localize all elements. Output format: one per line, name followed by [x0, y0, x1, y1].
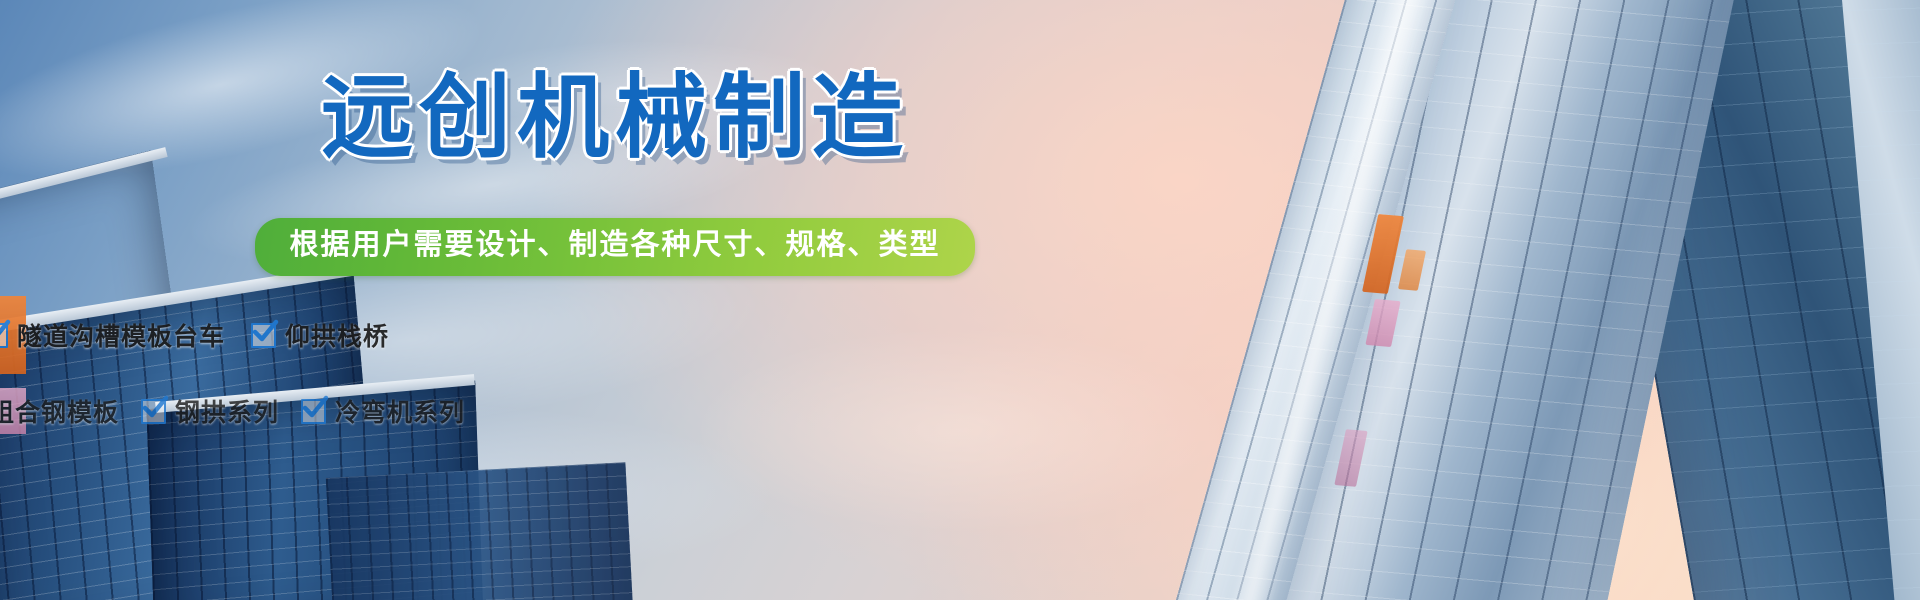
- checkbox-checked-icon: [251, 323, 276, 348]
- banner-subtitle-wrap: 根据用户需要设计、制造各种尺寸、规格、类型: [0, 218, 1230, 276]
- feature-label: 大型组合钢模板: [0, 393, 119, 429]
- feature-item[interactable]: 大型组合钢模板: [0, 393, 119, 429]
- feature-label: 隧道沟槽模板台车: [17, 317, 225, 353]
- banner-subtitle-pill: 根据用户需要设计、制造各种尺寸、规格、类型: [255, 218, 974, 276]
- feature-label: 钢拱系列: [175, 393, 279, 429]
- feature-label: 仰拱栈桥: [285, 317, 389, 353]
- feature-item[interactable]: 钢拱系列: [141, 393, 279, 429]
- hero-banner: 远创机械制造 根据用户需要设计、制造各种尺寸、规格、类型 全液压衬砌模板台车系列…: [0, 0, 1920, 600]
- feature-row-1: 全液压衬砌模板台车系列 隧道沟槽模板台车 仰拱栈桥: [0, 296, 26, 374]
- checkbox-checked-icon: [141, 399, 166, 424]
- feature-item[interactable]: 隧道沟槽模板台车: [0, 317, 225, 353]
- feature-row-2: 隧道可调整断面开挖台架 大型组合钢模板 钢拱系列: [0, 388, 26, 434]
- checkbox-checked-icon: [301, 399, 326, 424]
- feature-list: 全液压衬砌模板台车系列 隧道沟槽模板台车 仰拱栈桥: [0, 296, 1230, 448]
- checkbox-checked-icon: [0, 323, 8, 348]
- feature-label: 冷弯机系列: [335, 393, 465, 429]
- banner-content: 远创机械制造 根据用户需要设计、制造各种尺寸、规格、类型 全液压衬砌模板台车系列…: [0, 0, 1920, 600]
- feature-item[interactable]: 冷弯机系列: [301, 393, 465, 429]
- banner-headline: 远创机械制造: [0, 72, 1230, 164]
- feature-item[interactable]: 仰拱栈桥: [251, 317, 389, 353]
